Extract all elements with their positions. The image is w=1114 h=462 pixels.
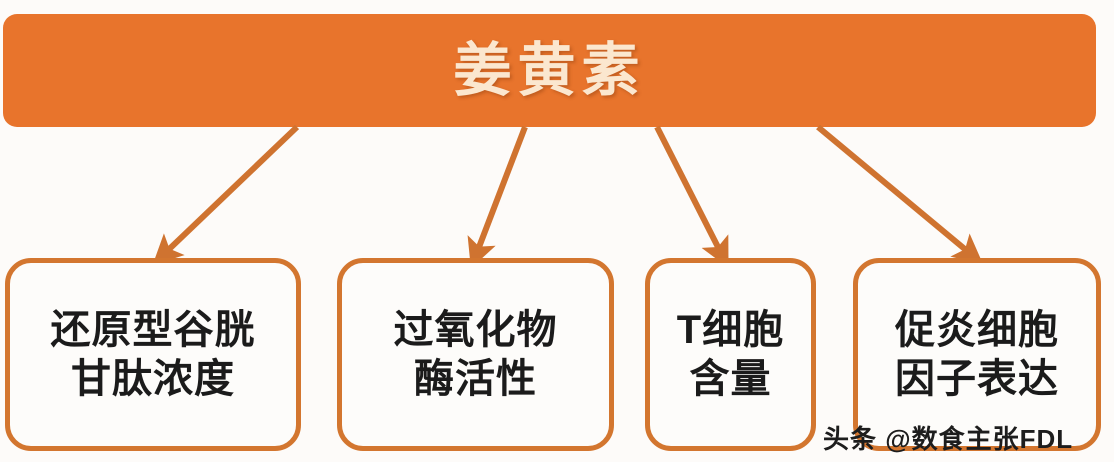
diagram-canvas: 姜黄素 还原型谷胱 甘肽浓度 过氧化物 酶活性 T细胞 含量 促炎细胞 因子表达… — [0, 0, 1114, 462]
node-3-line-1: T细胞 — [677, 306, 784, 355]
root-node-banner: 姜黄素 — [3, 14, 1096, 127]
arrow-to-node-3 — [657, 127, 722, 255]
node-1-line-1: 还原型谷胱 — [51, 306, 256, 355]
node-t-cell-content[interactable]: T细胞 含量 — [645, 258, 816, 451]
watermark-text: 头条 @数食主张FDL — [823, 419, 1073, 456]
node-1-line-2: 甘肽浓度 — [71, 355, 235, 404]
arrow-to-node-4 — [818, 127, 972, 255]
arrow-to-node-2 — [476, 127, 525, 255]
node-4-line-1: 促炎细胞 — [895, 306, 1059, 355]
node-4-line-2: 因子表达 — [895, 355, 1059, 404]
node-2-line-2: 酶活性 — [414, 355, 537, 404]
node-reduced-glutathione[interactable]: 还原型谷胱 甘肽浓度 — [5, 258, 301, 451]
node-peroxidase-activity[interactable]: 过氧化物 酶活性 — [337, 258, 614, 451]
diagram-title: 姜黄素 — [453, 42, 645, 100]
arrow-to-node-1 — [163, 127, 297, 255]
node-3-line-2: 含量 — [690, 355, 772, 404]
node-2-line-1: 过氧化物 — [394, 306, 558, 355]
